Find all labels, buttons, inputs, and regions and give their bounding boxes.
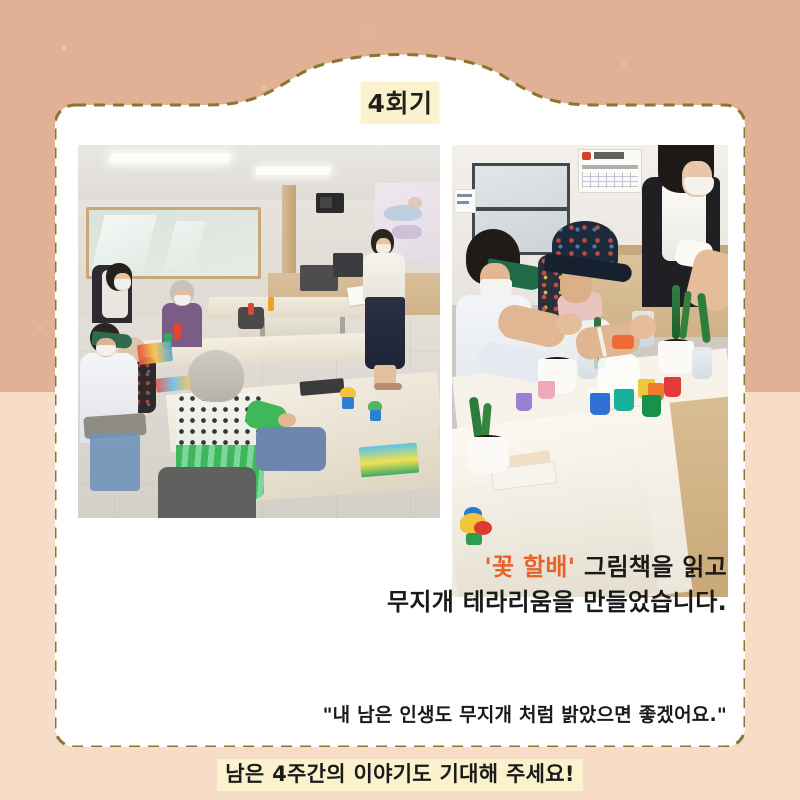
wall-notice-subtitle xyxy=(582,165,638,169)
chair xyxy=(256,427,326,471)
description-text-block: '꽃 할배' 그림책을 읽고 무지개 테라리움을 만들었습니다. xyxy=(95,550,727,620)
colored-sand-cup xyxy=(538,381,555,399)
wall-speaker-detail xyxy=(320,197,332,208)
colored-sand-cup xyxy=(642,395,661,417)
session-title-badge: 4회기 xyxy=(361,82,440,124)
description-line-1-rest: 그림책을 읽고 xyxy=(575,553,727,581)
ceiling-light xyxy=(255,167,330,175)
craft-toy xyxy=(370,410,381,421)
participant-quote: "내 남은 인생도 무지개 처럼 밝았으면 좋겠어요." xyxy=(55,700,727,727)
poster-root: 4회기 xyxy=(0,0,800,800)
craft-toy xyxy=(342,397,354,409)
description-line-2: 무지개 테라리움을 만들었습니다. xyxy=(95,585,727,620)
projected-illustration xyxy=(408,197,422,209)
participant-hand xyxy=(278,413,296,427)
ceiling-light xyxy=(109,153,231,163)
projected-illustration xyxy=(392,225,422,239)
colored-cup xyxy=(174,323,181,339)
photo-terrarium-activity xyxy=(452,145,728,597)
wall-notice-calendar xyxy=(582,172,638,188)
orange-wristwatch xyxy=(612,335,634,349)
photo-classroom-lecture xyxy=(78,145,440,518)
description-line-1: '꽃 할배' 그림책을 읽고 xyxy=(95,550,727,585)
picture-book-stack xyxy=(359,443,419,478)
colored-sand-cup xyxy=(664,377,681,397)
instructor-skirt xyxy=(365,297,405,369)
glass-cup xyxy=(692,347,712,379)
craft-toy xyxy=(466,533,482,545)
wall-notice-logo xyxy=(582,152,591,160)
wall-note-line xyxy=(457,194,472,197)
chair xyxy=(158,467,256,518)
wall-note-line xyxy=(457,201,469,204)
card-content-layer: 4회기 xyxy=(55,52,745,747)
colored-sand-cup xyxy=(614,389,634,411)
colored-sand-cup xyxy=(516,393,532,411)
white-pot xyxy=(468,437,508,473)
craft-materials xyxy=(137,341,173,365)
printer xyxy=(333,253,363,277)
instructor-blouse xyxy=(363,253,405,303)
content-card: 4회기 xyxy=(55,52,745,747)
colored-sand-cup xyxy=(590,393,610,415)
bottom-banner-text: 남은 4주간의 이야기도 기대해 주세요! xyxy=(217,759,583,791)
book-title-accent: '꽃 할배' xyxy=(484,553,575,581)
bottom-banner: 남은 4주간의 이야기도 기대해 주세요! xyxy=(0,758,800,788)
colored-cup xyxy=(248,303,254,315)
colored-cup xyxy=(268,297,274,311)
wall-notice-title xyxy=(594,152,624,159)
window-frame-bar xyxy=(472,207,570,211)
chair-seat xyxy=(90,433,140,491)
staff-mask xyxy=(684,177,714,195)
instructor-shoes xyxy=(374,383,402,390)
white-pot xyxy=(658,341,694,373)
participant-grey-hair xyxy=(188,350,244,402)
snake-plant xyxy=(672,285,680,339)
participant-hand xyxy=(630,315,656,339)
